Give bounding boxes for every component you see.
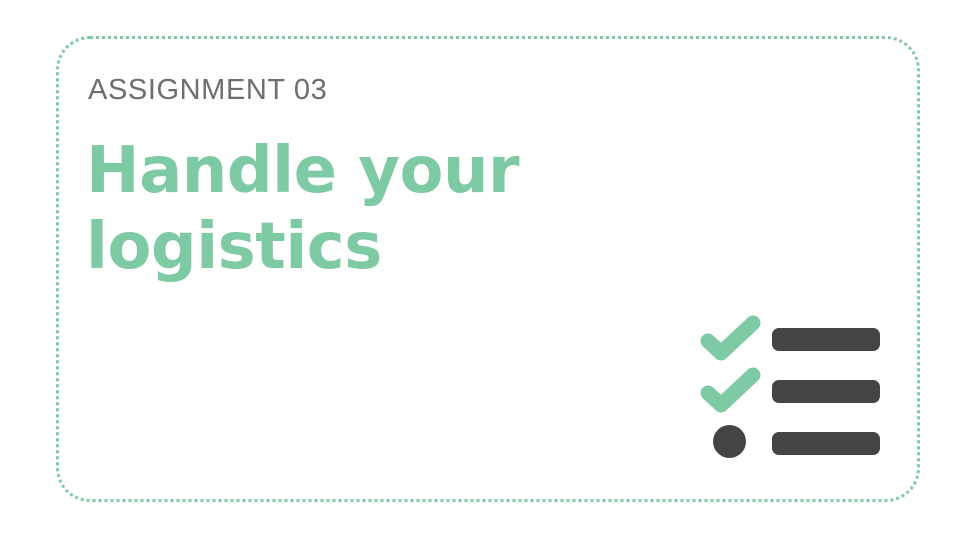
page-title: Handle your logistics: [86, 133, 646, 285]
task-bar: [772, 432, 880, 455]
check-icon: [700, 316, 764, 362]
checklist-item: [700, 316, 886, 362]
task-bar: [772, 328, 880, 351]
checklist-item: [700, 420, 886, 466]
check-icon: [700, 368, 764, 414]
task-bar: [772, 380, 880, 403]
checklist-graphic: [700, 316, 886, 466]
slide-canvas: ASSIGNMENT 03 Handle your logistics: [0, 0, 960, 540]
page-title-line-1: Handle your: [86, 133, 646, 209]
eyebrow-label: ASSIGNMENT 03: [88, 74, 327, 107]
page-title-line-2: logistics: [86, 209, 646, 285]
dot-icon: [713, 425, 746, 458]
checklist-item: [700, 368, 886, 414]
